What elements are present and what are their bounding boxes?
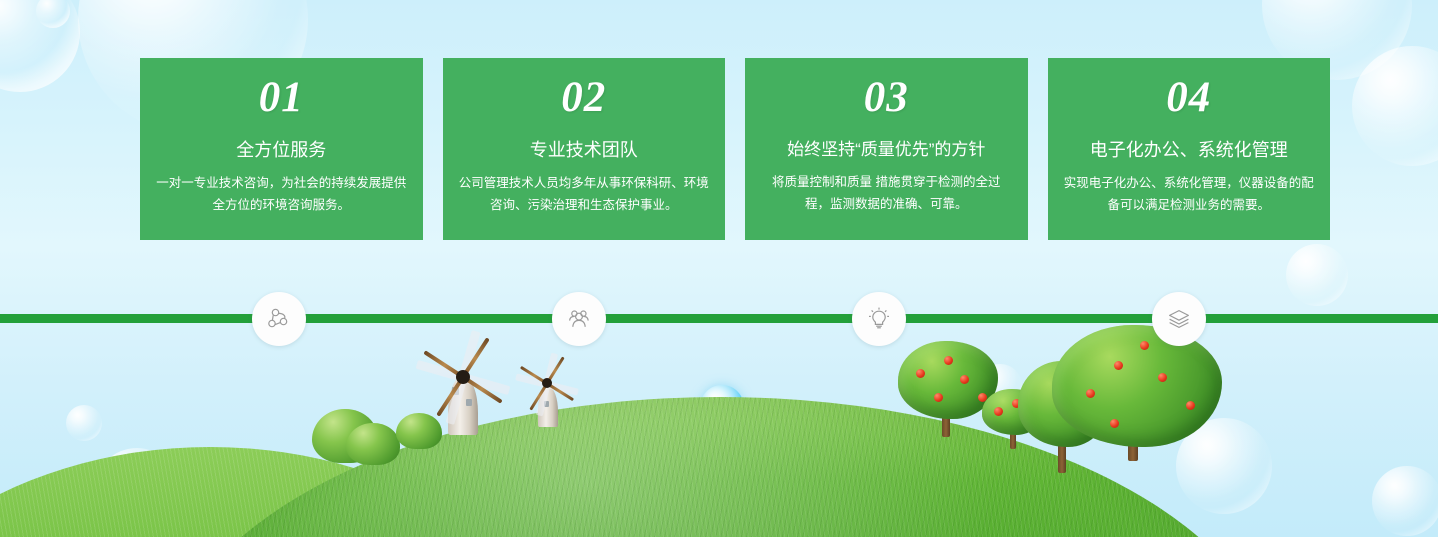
bubble-decoration (66, 405, 102, 441)
timeline-node-4[interactable] (1152, 292, 1206, 346)
feature-card-list: 01 全方位服务 一对一专业技术咨询，为社会的持续发展提供全方位的环境咨询服务。… (140, 58, 1330, 240)
apple-tree (1018, 361, 1110, 473)
feature-card[interactable]: 02 专业技术团队 公司管理技术人员均多年从事环保科研、环境咨询、污染治理和生态… (443, 58, 726, 240)
feature-number: 01 (259, 76, 304, 119)
timeline-ribbon (0, 314, 1438, 323)
grass-hill (160, 397, 1280, 537)
bush-left (396, 413, 442, 449)
apple-tree (982, 389, 1044, 449)
apple-tree (898, 341, 998, 437)
timeline-node-1[interactable] (252, 292, 306, 346)
bubble-decoration (0, 0, 80, 92)
bubble-decoration (1176, 418, 1272, 514)
feature-description: 公司管理技术人员均多年从事环保科研、环境咨询、污染治理和生态保护事业。 (459, 173, 710, 217)
windmill-large (424, 343, 502, 435)
timeline-node-2[interactable] (552, 292, 606, 346)
bubble-highlight (700, 385, 744, 429)
bubble-decoration (94, 448, 180, 534)
bubble-decoration (978, 364, 1022, 408)
feature-number: 02 (561, 76, 606, 119)
feature-title: 全方位服务 (236, 139, 326, 162)
grass-hill-left (0, 447, 590, 537)
windmill-small (520, 361, 576, 431)
timeline-node-3[interactable] (852, 292, 906, 346)
feature-description: 将质量控制和质量 措施贯穿于检测的全过程，监测数据的准确、可靠。 (761, 172, 1012, 216)
bubble-decoration (1352, 46, 1438, 166)
network-nodes-icon (266, 306, 292, 332)
lightbulb-icon (866, 306, 892, 332)
feature-description: 一对一专业技术咨询，为社会的持续发展提供全方位的环境咨询服务。 (156, 173, 407, 217)
feature-card[interactable]: 03 始终坚持“质量优先”的方针 将质量控制和质量 措施贯穿于检测的全过程，监测… (745, 58, 1028, 240)
bush-left (312, 409, 378, 463)
apple-tree-large (1052, 325, 1222, 461)
feature-number: 04 (1166, 76, 1211, 119)
feature-number: 03 (864, 76, 909, 119)
layers-stack-icon (1166, 306, 1192, 332)
bubble-decoration (1372, 466, 1438, 536)
feature-title: 专业技术团队 (530, 139, 638, 162)
feature-card[interactable]: 04 电子化办公、系统化管理 实现电子化办公、系统化管理，仪器设备的配备可以满足… (1048, 58, 1331, 240)
feature-description: 实现电子化办公、系统化管理，仪器设备的配备可以满足检测业务的需要。 (1064, 173, 1315, 217)
feature-title: 始终坚持“质量优先”的方针 (787, 139, 985, 161)
bubble-decoration (70, 490, 120, 537)
bubble-decoration (36, 0, 70, 28)
feature-title: 电子化办公、系统化管理 (1090, 139, 1288, 162)
promo-banner: 01 全方位服务 一对一专业技术咨询，为社会的持续发展提供全方位的环境咨询服务。… (0, 0, 1438, 537)
bubble-decoration (1286, 244, 1348, 306)
bush-left (346, 423, 400, 465)
landscape-illustration (0, 317, 1438, 537)
users-group-icon (566, 306, 592, 332)
feature-card[interactable]: 01 全方位服务 一对一专业技术咨询，为社会的持续发展提供全方位的环境咨询服务。 (140, 58, 423, 240)
